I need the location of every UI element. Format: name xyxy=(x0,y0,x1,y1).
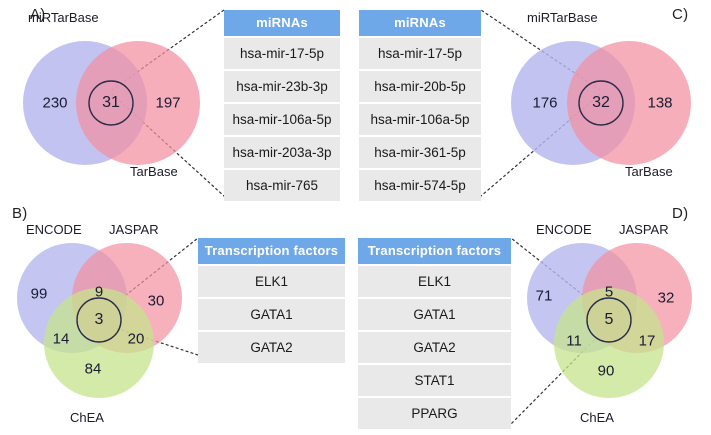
mirna-table-right-row-2: hsa-mir-20b-5p xyxy=(359,69,481,102)
tf-table-left-header: Transcription factors xyxy=(198,238,345,264)
venn-d-label-jaspar: JASPAR xyxy=(619,222,669,237)
mirna-table-left-header: miRNAs xyxy=(224,10,340,36)
venn-b-count-chea-only: 84 xyxy=(85,361,102,378)
venn-c-count-tarbase-only: 138 xyxy=(647,95,672,112)
mirna-table-left-row-5: hsa-mir-765 xyxy=(224,168,340,201)
venn-diagram-a: miRTarBase TarBase 230 197 31 xyxy=(10,28,210,178)
tf-table-right-row-3: GATA2 xyxy=(358,330,511,363)
mirna-table-left-row-3: hsa-mir-106a-5p xyxy=(224,102,340,135)
venn-b-count-jaspar-only: 30 xyxy=(148,293,165,310)
venn-c-count-intersection: 32 xyxy=(592,94,610,112)
venn-b-label-chea: ChEA xyxy=(70,410,104,425)
venn-diagram-d: ENCODE JASPAR ChEA 71 32 90 5 11 17 5 xyxy=(518,240,703,425)
venn-d-count-encode-only: 71 xyxy=(536,288,553,305)
venn-c-count-mirtarbase-only: 176 xyxy=(532,95,557,112)
tf-table-left-row-3: GATA2 xyxy=(198,330,345,363)
tf-table-left: Transcription factors ELK1 GATA1 GATA2 xyxy=(198,238,345,363)
tf-table-left-row-2: GATA1 xyxy=(198,297,345,330)
mirna-table-left: miRNAs hsa-mir-17-5p hsa-mir-23b-3p hsa-… xyxy=(224,10,340,201)
venn-d-label-encode: ENCODE xyxy=(536,222,592,237)
mirna-table-left-row-2: hsa-mir-23b-3p xyxy=(224,69,340,102)
mirna-table-right-row-5: hsa-mir-574-5p xyxy=(359,168,481,201)
venn-d-count-encode-jaspar: 5 xyxy=(605,284,613,301)
mirna-table-right-row-3: hsa-mir-106a-5p xyxy=(359,102,481,135)
venn-b-count-encode-chea: 14 xyxy=(53,331,70,348)
venn-a-count-mirtarbase-only: 230 xyxy=(42,95,67,112)
tf-table-left-row-1: ELK1 xyxy=(198,264,345,297)
venn-b-label-jaspar: JASPAR xyxy=(109,222,159,237)
panel-letter-d: D) xyxy=(672,205,688,222)
venn-c-label-mirtarbase: miRTarBase xyxy=(527,10,598,25)
venn-a-label-tarbase: TarBase xyxy=(130,164,178,179)
panel-letter-b: B) xyxy=(12,205,28,222)
mirna-table-left-row-1: hsa-mir-17-5p xyxy=(224,36,340,69)
venn-b-count-encode-jaspar: 9 xyxy=(95,284,103,301)
venn-d-count-jaspar-chea: 17 xyxy=(639,333,656,350)
tf-table-right-header: Transcription factors xyxy=(358,238,511,264)
venn-a-count-intersection: 31 xyxy=(102,94,120,112)
venn-d-count-chea-only: 90 xyxy=(598,363,615,380)
venn-a-count-tarbase-only: 197 xyxy=(155,95,180,112)
venn-b-count-encode-only: 99 xyxy=(31,286,48,303)
venn-a-label-mirtarbase: miRTarBase xyxy=(28,10,99,25)
venn-d-count-intersection: 5 xyxy=(605,311,614,329)
panel-letter-c: C) xyxy=(672,6,688,23)
venn-diagram-c: miRTarBase TarBase 176 138 32 xyxy=(505,28,705,178)
venn-d-count-encode-chea: 11 xyxy=(566,333,582,350)
venn-c-label-tarbase: TarBase xyxy=(625,164,673,179)
mirna-table-right: miRNAs hsa-mir-17-5p hsa-mir-20b-5p hsa-… xyxy=(359,10,481,201)
venn-a-circle-tarbase xyxy=(76,41,200,165)
tf-table-right-row-1: ELK1 xyxy=(358,264,511,297)
venn-b-count-intersection: 3 xyxy=(95,311,104,329)
mirna-table-right-header: miRNAs xyxy=(359,10,481,36)
venn-diagram-b: ENCODE JASPAR ChEA 99 30 84 9 14 20 3 xyxy=(8,240,193,425)
tf-table-right: Transcription factors ELK1 GATA1 GATA2 S… xyxy=(358,238,511,429)
mirna-table-left-row-4: hsa-mir-203a-3p xyxy=(224,135,340,168)
venn-figure: A) miRTarBase TarBase 230 197 31 miRNAs … xyxy=(0,0,711,435)
mirna-table-right-row-1: hsa-mir-17-5p xyxy=(359,36,481,69)
tf-table-right-row-4: STAT1 xyxy=(358,363,511,396)
tf-table-right-row-2: GATA1 xyxy=(358,297,511,330)
venn-d-count-jaspar-only: 32 xyxy=(658,290,675,307)
venn-d-label-chea: ChEA xyxy=(580,410,614,425)
mirna-table-right-row-4: hsa-mir-361-5p xyxy=(359,135,481,168)
venn-b-label-encode: ENCODE xyxy=(26,222,82,237)
venn-b-count-jaspar-chea: 20 xyxy=(128,331,145,348)
tf-table-right-row-5: PPARG xyxy=(358,396,511,429)
